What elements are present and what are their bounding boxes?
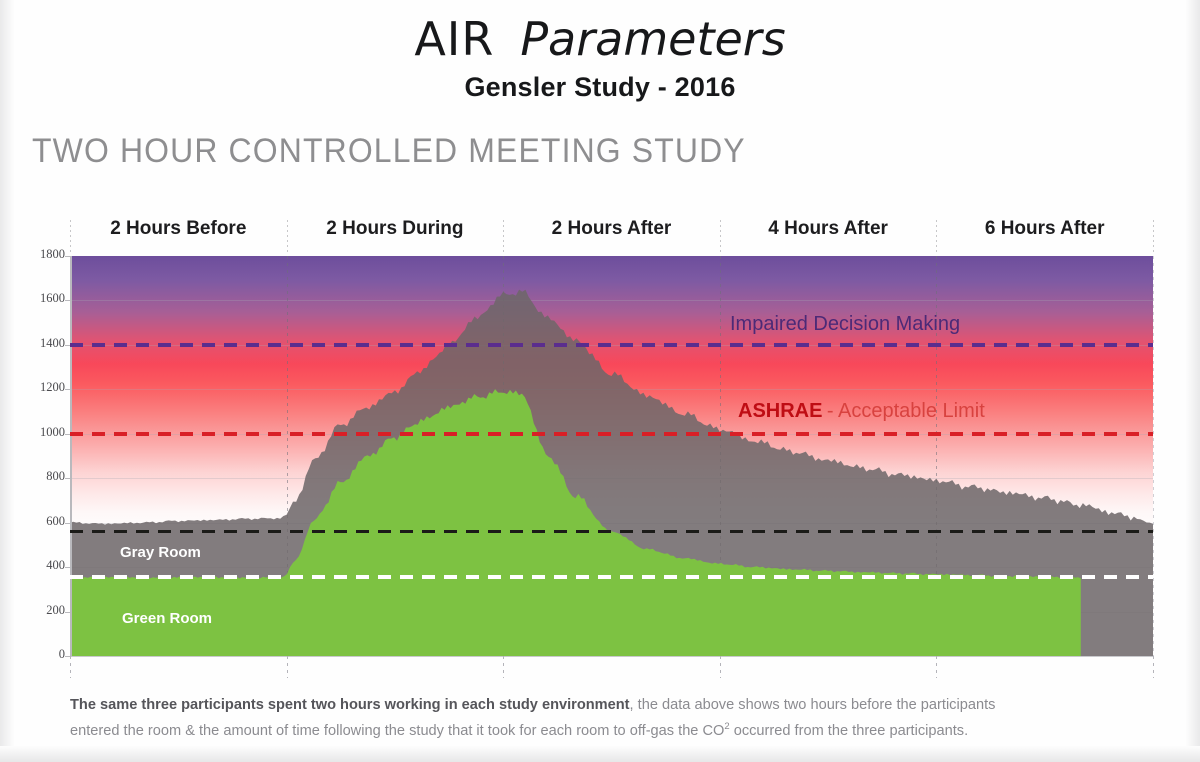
caption-rest-line1: , the data above shows two hours before …: [630, 697, 996, 713]
phase-label-1: 2 Hours Before: [70, 218, 287, 240]
y-axis-tick-label: 400: [5, 558, 65, 573]
label-green-room: Green Room: [122, 610, 212, 627]
page-title: AIRParameters: [0, 12, 1200, 66]
y-axis-tick-label: 1200: [5, 380, 65, 395]
ashrae-bold-text: ASHRAE: [738, 400, 822, 422]
phase-separator: [1153, 220, 1154, 252]
slide-canvas: AIRParameters Gensler Study - 2016 TWO H…: [0, 0, 1200, 762]
caption-line2-a: entered the room & the amount of time fo…: [70, 723, 724, 739]
x-axis-tick: [1153, 656, 1154, 678]
title-parameters: Parameters: [520, 12, 785, 66]
caption-line2-b: occurred from the three participants.: [730, 723, 968, 739]
series-areas: [70, 256, 1153, 656]
x-axis-tick: [287, 656, 288, 678]
chart-plot-area: 020040060080010001200140016001800 Impair…: [70, 256, 1153, 656]
y-axis-tick-label: 1600: [5, 291, 65, 306]
y-axis-tick-label: 1000: [5, 425, 65, 440]
gridline-phase-divider: [1153, 256, 1154, 656]
caption-bold-lead: The same three participants spent two ho…: [70, 697, 630, 713]
section-heading: TWO HOUR CONTROLLED MEETING STUDY: [32, 132, 746, 171]
title-air: AIR: [414, 12, 494, 66]
y-axis-tick-label: 1800: [5, 247, 65, 262]
y-axis-tick-label: 200: [5, 603, 65, 618]
x-axis-tick: [70, 656, 71, 678]
y-axis-line: [70, 256, 72, 656]
annotation-impaired-decision-making: Impaired Decision Making: [730, 313, 960, 336]
label-gray-room: Gray Room: [120, 544, 201, 561]
phase-label-5: 6 Hours After: [936, 218, 1153, 240]
annotation-ashrae-limit: ASHRAE - Acceptable Limit: [738, 400, 985, 423]
x-axis-tick: [503, 656, 504, 678]
x-axis-tick: [936, 656, 937, 678]
ashrae-rest-text: - Acceptable Limit: [827, 400, 985, 422]
caption-text: The same three participants spent two ho…: [70, 694, 1130, 742]
phase-label-band: 2 Hours Before2 Hours During2 Hours Afte…: [0, 218, 1200, 254]
phase-label-2: 2 Hours During: [287, 218, 504, 240]
y-axis-tick-label: 1400: [5, 336, 65, 351]
x-axis-line: [70, 656, 1153, 657]
y-axis-tick-label: 600: [5, 514, 65, 529]
x-axis-tick: [720, 656, 721, 678]
y-axis-tick-label: 800: [5, 469, 65, 484]
bottom-edge-shading: [0, 746, 1200, 762]
right-edge-shading: [1186, 0, 1200, 762]
page-subtitle: Gensler Study - 2016: [0, 72, 1200, 103]
phase-label-4: 4 Hours After: [720, 218, 937, 240]
phase-label-3: 2 Hours After: [503, 218, 720, 240]
y-axis-tick-label: 0: [5, 647, 65, 662]
